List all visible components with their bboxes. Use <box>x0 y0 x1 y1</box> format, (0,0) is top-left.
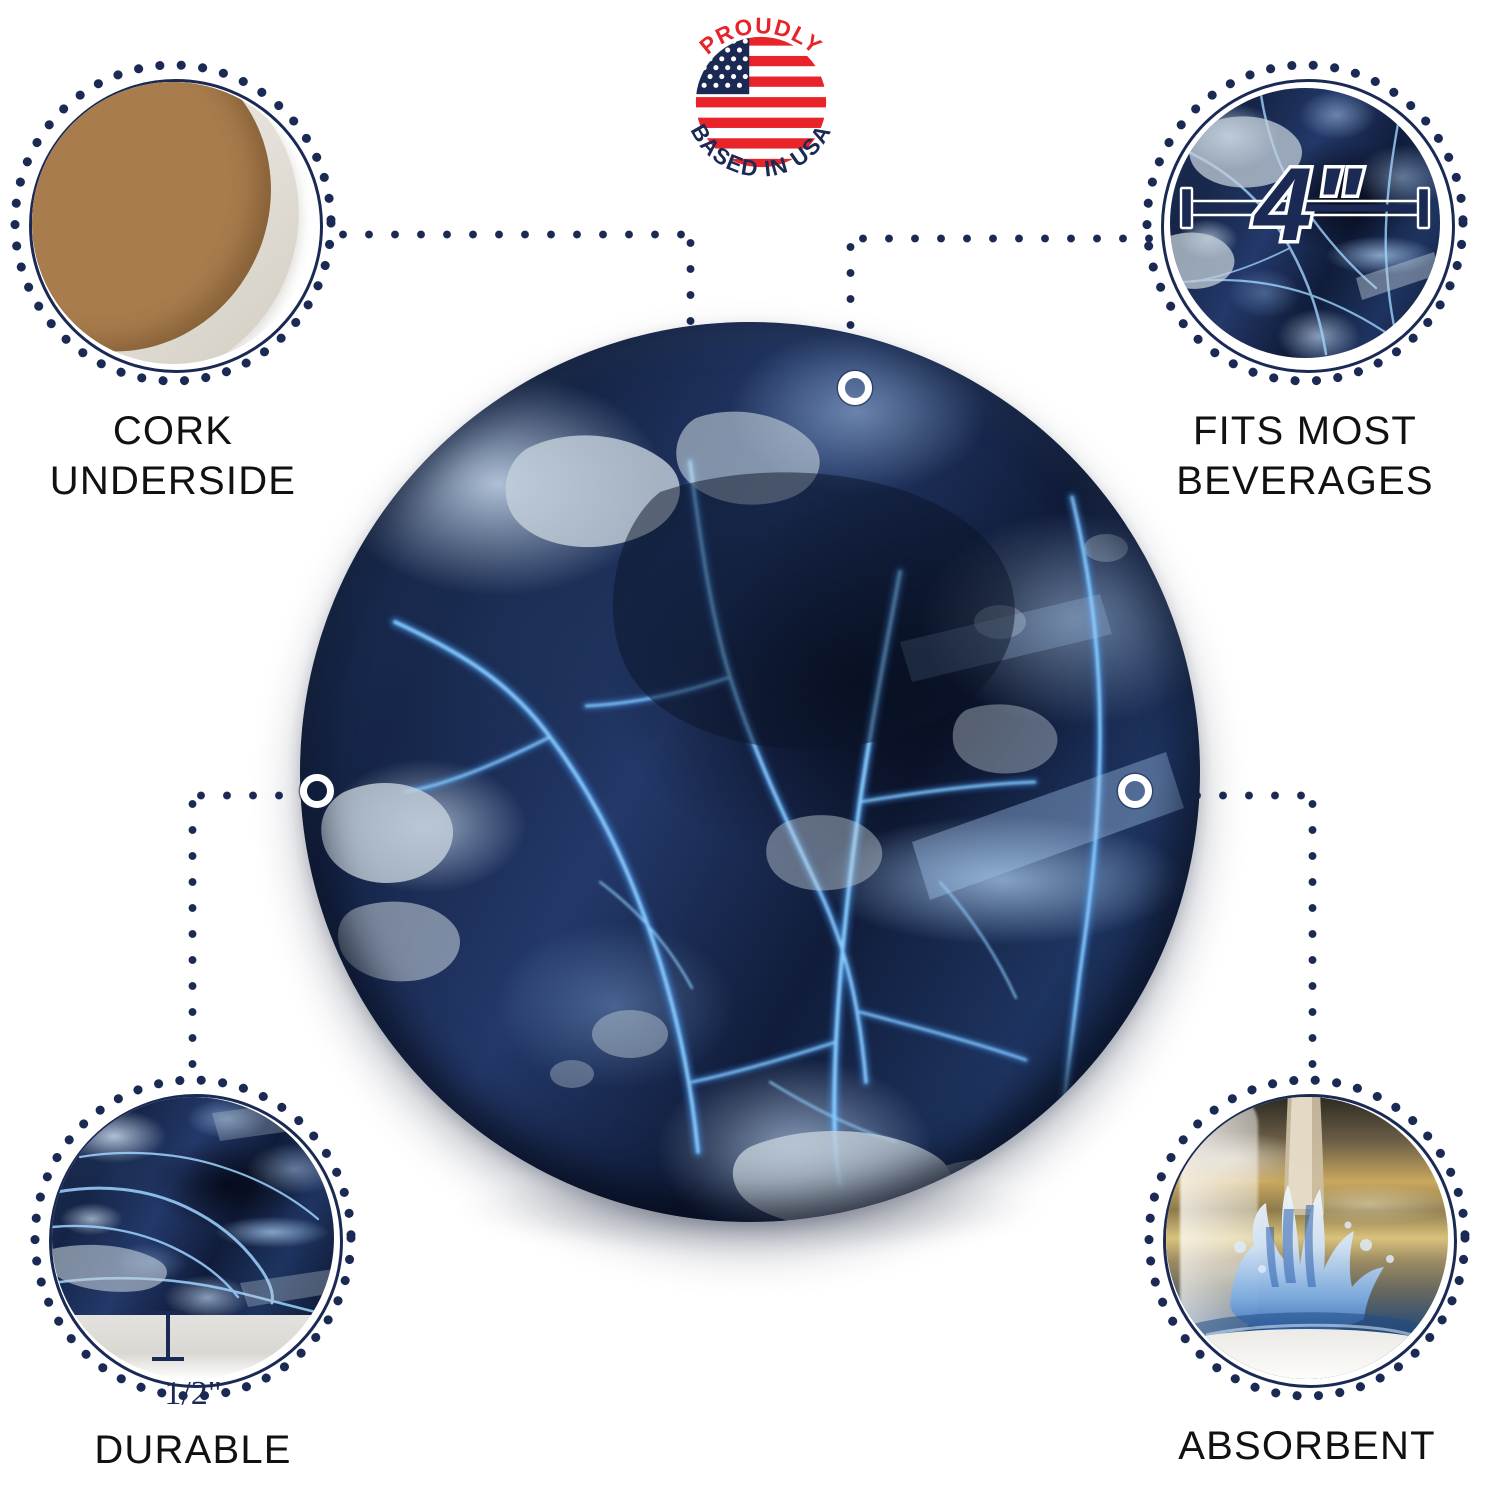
callout-label-cork-underside: CORK UNDERSIDE <box>8 406 338 507</box>
width-dimension-value: 4" <box>1252 147 1363 263</box>
infographic-canvas: PROUDLY BASED IN USA CORK UNDERSIDE <box>0 0 1500 1487</box>
callout-label-durable: DURABLE <box>28 1425 358 1475</box>
marker-absorbent <box>1118 774 1152 808</box>
cork-underside-photo <box>32 82 314 364</box>
connector-absorbent-vertical <box>1308 791 1317 1076</box>
callout-label-absorbent: ABSORBENT <box>1142 1421 1472 1471</box>
connector-durable-vertical <box>188 791 197 1076</box>
thickness-dimension-icon <box>52 1097 334 1379</box>
durable-photo <box>52 1097 334 1379</box>
coaster-base-edge <box>1166 1329 1448 1379</box>
callout-absorbent: ABSORBENT <box>1142 1073 1472 1403</box>
callout-label-fits-most-beverages: FITS MOST BEVERAGES <box>1140 406 1470 507</box>
fits-most-beverages-photo: 4" <box>1170 88 1440 358</box>
thickness-dimension-value: 1/2" <box>52 1375 334 1413</box>
connector-cork-underside-horizontal <box>330 230 690 239</box>
connector-absorbent-horizontal <box>1184 791 1312 800</box>
marker-durable <box>300 774 334 808</box>
callout-fits-most-beverages: 4" FITS MOST BEVERAGES <box>1140 58 1470 388</box>
callout-cork-underside: CORK UNDERSIDE <box>8 58 338 388</box>
callout-durable: 1/2" DURABLE <box>28 1073 358 1403</box>
connector-fits-most-beverages-horizontal <box>850 234 1166 243</box>
coaster-rim-shading <box>300 322 1200 1222</box>
main-coaster <box>300 322 1200 1222</box>
usa-flag-circle-icon: PROUDLY BASED IN USA <box>663 4 859 200</box>
proudly-based-in-usa-badge: PROUDLY BASED IN USA <box>663 4 859 200</box>
width-dimension-icon: 4" <box>1170 88 1440 358</box>
absorbent-photo <box>1166 1097 1448 1379</box>
marker-fits-most-beverages <box>838 371 872 405</box>
